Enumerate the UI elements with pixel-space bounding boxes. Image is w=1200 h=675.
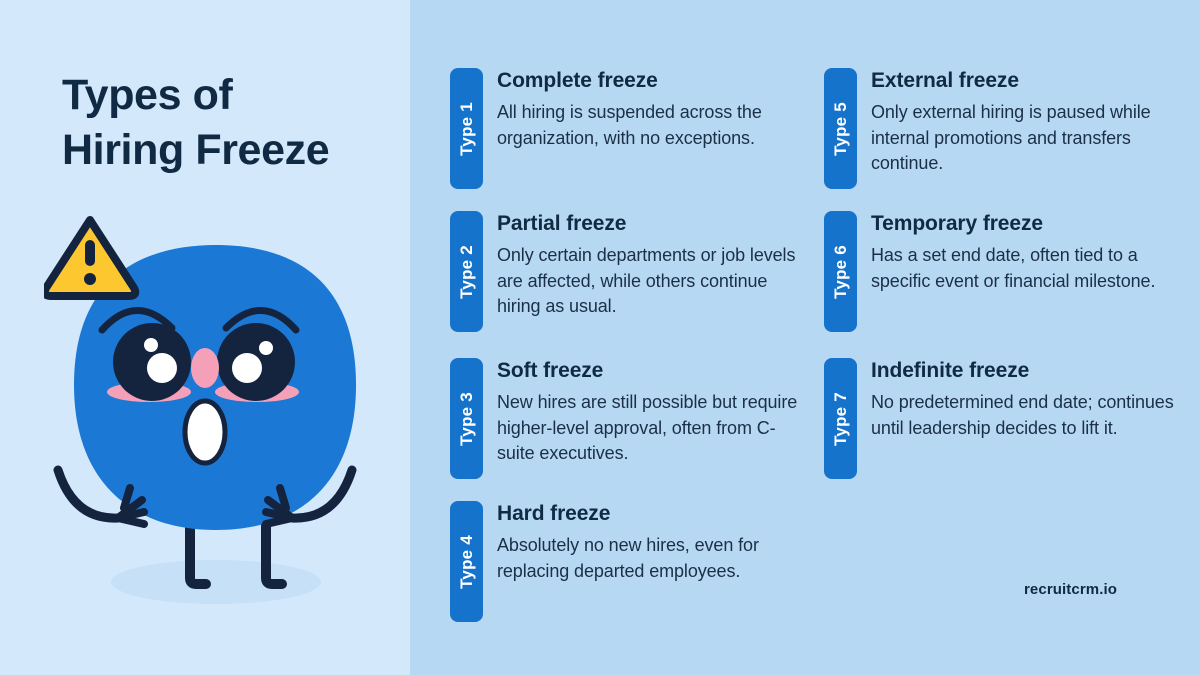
warning-triangle-icon [45, 220, 135, 296]
eye-right-highlight-large [232, 353, 262, 383]
type-badge-4: Type 4 [450, 501, 483, 622]
type-badge-label-3: Type 3 [457, 392, 477, 446]
type-badge-label-7: Type 7 [831, 392, 851, 446]
type-body-1: Complete freeze All hiring is suspended … [497, 68, 805, 151]
type-item-1[interactable]: Type 1 Complete freeze All hiring is sus… [450, 68, 805, 189]
type-title-6: Temporary freeze [871, 212, 1179, 236]
ground-shadow [111, 560, 321, 604]
type-desc-4: Absolutely no new hires, even for replac… [497, 533, 805, 584]
type-desc-6: Has a set end date, often tied to a spec… [871, 243, 1179, 294]
type-item-5[interactable]: Type 5 External freeze Only external hir… [824, 68, 1179, 189]
type-badge-label-2: Type 2 [457, 245, 477, 299]
type-badge-label-4: Type 4 [457, 535, 477, 589]
type-title-2: Partial freeze [497, 212, 805, 236]
type-item-7[interactable]: Type 7 Indefinite freeze No predetermine… [824, 358, 1179, 479]
type-title-7: Indefinite freeze [871, 359, 1179, 383]
type-desc-1: All hiring is suspended across the organ… [497, 100, 805, 151]
type-item-3[interactable]: Type 3 Soft freeze New hires are still p… [450, 358, 805, 479]
eye-left-highlight-large [147, 353, 177, 383]
type-badge-2: Type 2 [450, 211, 483, 332]
page-title: Types of Hiring Freeze [62, 68, 402, 178]
type-item-4[interactable]: Type 4 Hard freeze Absolutely no new hir… [450, 501, 805, 622]
type-body-6: Temporary freeze Has a set end date, oft… [871, 211, 1179, 294]
type-item-6[interactable]: Type 6 Temporary freeze Has a set end da… [824, 211, 1179, 332]
type-body-7: Indefinite freeze No predetermined end d… [871, 358, 1179, 441]
type-body-5: External freeze Only external hiring is … [871, 68, 1179, 177]
type-badge-label-5: Type 5 [831, 102, 851, 156]
mascot-illustration [44, 200, 394, 620]
type-desc-3: New hires are still possible but require… [497, 390, 805, 467]
page-title-line-2: Hiring Freeze [62, 123, 402, 178]
type-badge-1: Type 1 [450, 68, 483, 189]
type-body-4: Hard freeze Absolutely no new hires, eve… [497, 501, 805, 584]
types-grid: Type 1 Complete freeze All hiring is sus… [450, 68, 1180, 658]
type-title-3: Soft freeze [497, 359, 805, 383]
infographic-canvas: Types of Hiring Freeze [0, 0, 1200, 675]
type-badge-5: Type 5 [824, 68, 857, 189]
type-title-4: Hard freeze [497, 502, 805, 526]
type-desc-7: No predetermined end date; continues unt… [871, 390, 1179, 441]
brand-watermark: recruitcrm.io [1024, 581, 1117, 598]
mouth [185, 401, 225, 463]
nose [191, 348, 219, 388]
type-badge-7: Type 7 [824, 358, 857, 479]
type-badge-3: Type 3 [450, 358, 483, 479]
type-desc-5: Only external hiring is paused while int… [871, 100, 1179, 177]
type-badge-label-1: Type 1 [457, 102, 477, 156]
type-desc-2: Only certain departments or job levels a… [497, 243, 805, 320]
type-badge-6: Type 6 [824, 211, 857, 332]
eye-right-highlight-small [259, 341, 273, 355]
type-body-2: Partial freeze Only certain departments … [497, 211, 805, 320]
page-title-line-1: Types of [62, 68, 402, 123]
type-badge-label-6: Type 6 [831, 245, 851, 299]
eye-left-highlight-small [144, 338, 158, 352]
type-body-3: Soft freeze New hires are still possible… [497, 358, 805, 467]
type-title-1: Complete freeze [497, 69, 805, 93]
type-title-5: External freeze [871, 69, 1179, 93]
type-item-2[interactable]: Type 2 Partial freeze Only certain depar… [450, 211, 805, 332]
